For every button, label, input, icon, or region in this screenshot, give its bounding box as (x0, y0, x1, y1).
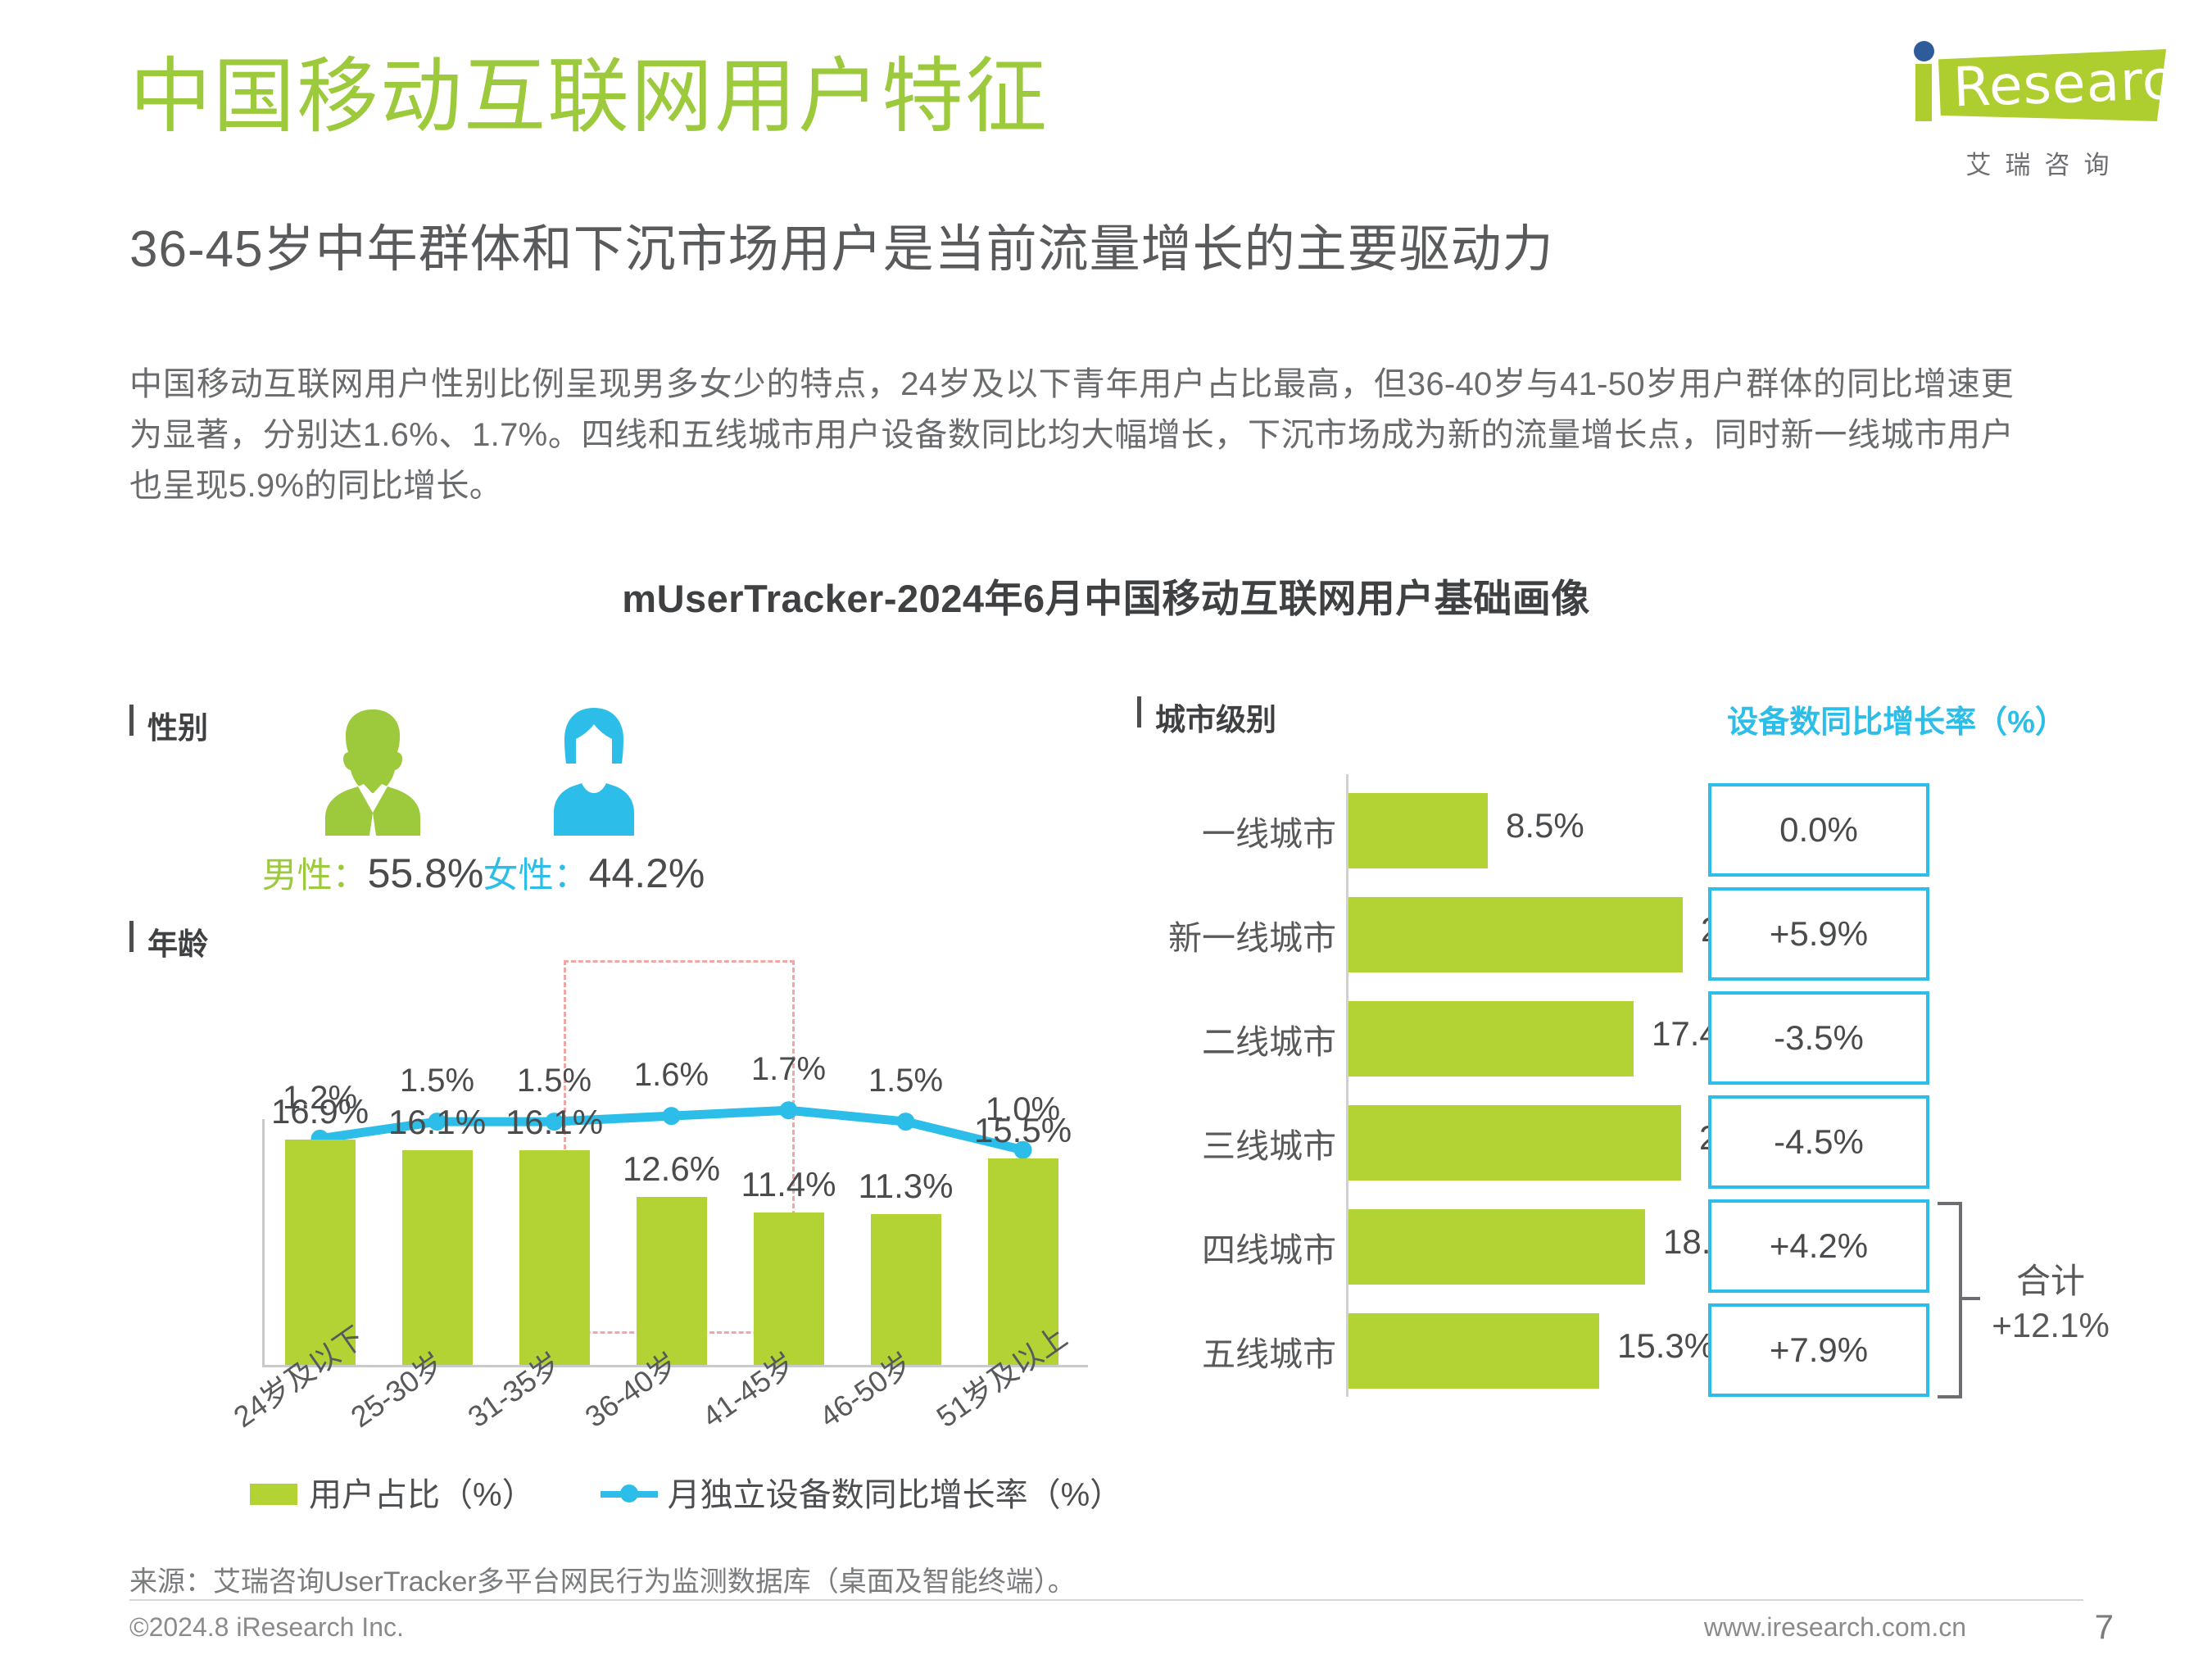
city-tier-bar (1349, 897, 1683, 972)
city-tier-bar (1349, 1105, 1681, 1181)
city-tier-bar (1349, 793, 1488, 868)
logo-wordmark: Research (1952, 50, 2209, 118)
city-tier-value: 15.3% (1617, 1326, 1715, 1366)
age-line-value: 1.5% (376, 1063, 499, 1099)
age-line-value: 1.2% (259, 1080, 382, 1117)
age-bar (402, 1150, 473, 1365)
logo-i-stem-icon (1915, 64, 1932, 121)
gender-female-tag: 女性： (483, 856, 589, 895)
gender-female: 女性：44.2% (459, 705, 729, 898)
city-tier-row: 二线城市17.4%-3.5% (1135, 986, 2142, 1090)
age-chart-legend: 用户占比（%）月独立设备数同比增长率（%） (250, 1468, 1122, 1516)
legend-line-label: 月独立设备数同比增长率（%） (668, 1477, 1123, 1513)
legend-bar-swatch (250, 1484, 297, 1505)
gender-female-value: 44.2% (589, 850, 705, 896)
logo-i-dot-icon (1914, 41, 1934, 61)
logo-mark: Research (1899, 39, 2169, 129)
growth-rate-box: +5.9% (1708, 887, 1929, 981)
growth-rate-box: -4.5% (1708, 1095, 1929, 1189)
age-bar-value: 11.3% (836, 1167, 976, 1206)
age-line-value: 1.5% (493, 1063, 616, 1099)
city-tier-value: 8.5% (1506, 806, 1584, 845)
logo-subtitle: 艾瑞咨询 (1902, 144, 2173, 181)
gender-male-tag: 男性： (262, 856, 368, 895)
footer-website[interactable]: www.iresearch.com.cn (1704, 1612, 1966, 1643)
age-plot-area: 16.9%16.1%16.1%12.6%11.4%11.3%15.5% 1.2%… (147, 955, 1098, 1365)
chart-title: mUserTracker-2024年6月中国移动互联网用户基础画像 (0, 567, 2212, 623)
page-number: 7 (2095, 1607, 2114, 1647)
summary-paragraph: 中国移动互联网用户性别比例呈现男多女少的特点，24岁及以下青年用户占比最高，但3… (129, 359, 2014, 511)
gender-block: 男性：55.8% 女性：44.2% (123, 705, 1090, 909)
total-label: 合计 (1969, 1259, 2133, 1303)
city-tier-label: 二线城市 (1135, 1014, 1336, 1063)
city-tier-row: 三线城市20.3%-4.5% (1135, 1090, 2142, 1194)
city-tier-label: 四线城市 (1135, 1222, 1336, 1271)
total-growth: 合计 +12.1% (1969, 1259, 2133, 1348)
city-tier-label: 五线城市 (1135, 1326, 1336, 1376)
legend-bar-label: 用户占比（%） (309, 1477, 535, 1513)
legend-line-swatch (601, 1484, 658, 1505)
age-chart: 16.9%16.1%16.1%12.6%11.4%11.3%15.5% 1.2%… (123, 916, 1106, 1539)
total-bracket (1938, 1202, 1962, 1398)
growth-rate-box: -3.5% (1708, 991, 1929, 1085)
city-tier-row: 一线城市8.5%0.0% (1135, 778, 2142, 882)
footer-divider (129, 1599, 2083, 1601)
growth-rate-box: +7.9% (1708, 1303, 1929, 1397)
footer-copyright: ©2024.8 iResearch Inc. (129, 1612, 404, 1643)
city-tier-label: 一线城市 (1135, 806, 1336, 855)
age-line-value: 1.0% (962, 1091, 1085, 1128)
city-tier-label: 新一线城市 (1135, 910, 1336, 959)
growth-rate-box: +4.2% (1708, 1199, 1929, 1293)
age-bar (754, 1213, 824, 1365)
source-note: 来源：艾瑞咨询UserTracker多平台网民行为监测数据库（桌面及智能终端）。 (129, 1559, 1076, 1599)
page-title: 中国移动互联网用户特征 (129, 51, 1049, 143)
age-bar (519, 1150, 590, 1365)
growth-rate-box: 0.0% (1708, 783, 1929, 877)
page-subtitle: 36-45岁中年群体和下沉市场用户是当前流量增长的主要驱动力 (129, 220, 1554, 280)
age-bar-value: 16.1% (485, 1103, 624, 1142)
total-value: +12.1% (1969, 1303, 2133, 1348)
growth-rate-header: 设备数同比增长率（%） (1708, 696, 2085, 741)
city-tier-label: 三线城市 (1135, 1118, 1336, 1167)
female-user-icon (459, 705, 729, 836)
gender-female-label: 女性：44.2% (459, 847, 729, 898)
age-line-value: 1.6% (610, 1057, 733, 1094)
iresearch-logo: Research 艾瑞咨询 (1899, 39, 2178, 195)
city-tier-chart: 设备数同比增长率（%） 一线城市8.5%0.0%新一线城市20.4%+5.9%二… (1135, 692, 2142, 1479)
city-tier-bar (1349, 1209, 1645, 1285)
city-tier-bar (1349, 1313, 1599, 1389)
age-bar (637, 1197, 707, 1365)
age-bar (871, 1214, 941, 1365)
age-line-value: 1.5% (845, 1063, 968, 1099)
slide-root: Research 艾瑞咨询 中国移动互联网用户特征 36-45岁中年群体和下沉市… (0, 0, 2212, 1659)
city-tier-row: 新一线城市20.4%+5.9% (1135, 882, 2142, 986)
age-line-value: 1.7% (728, 1051, 850, 1088)
city-tier-bar (1349, 1001, 1634, 1077)
